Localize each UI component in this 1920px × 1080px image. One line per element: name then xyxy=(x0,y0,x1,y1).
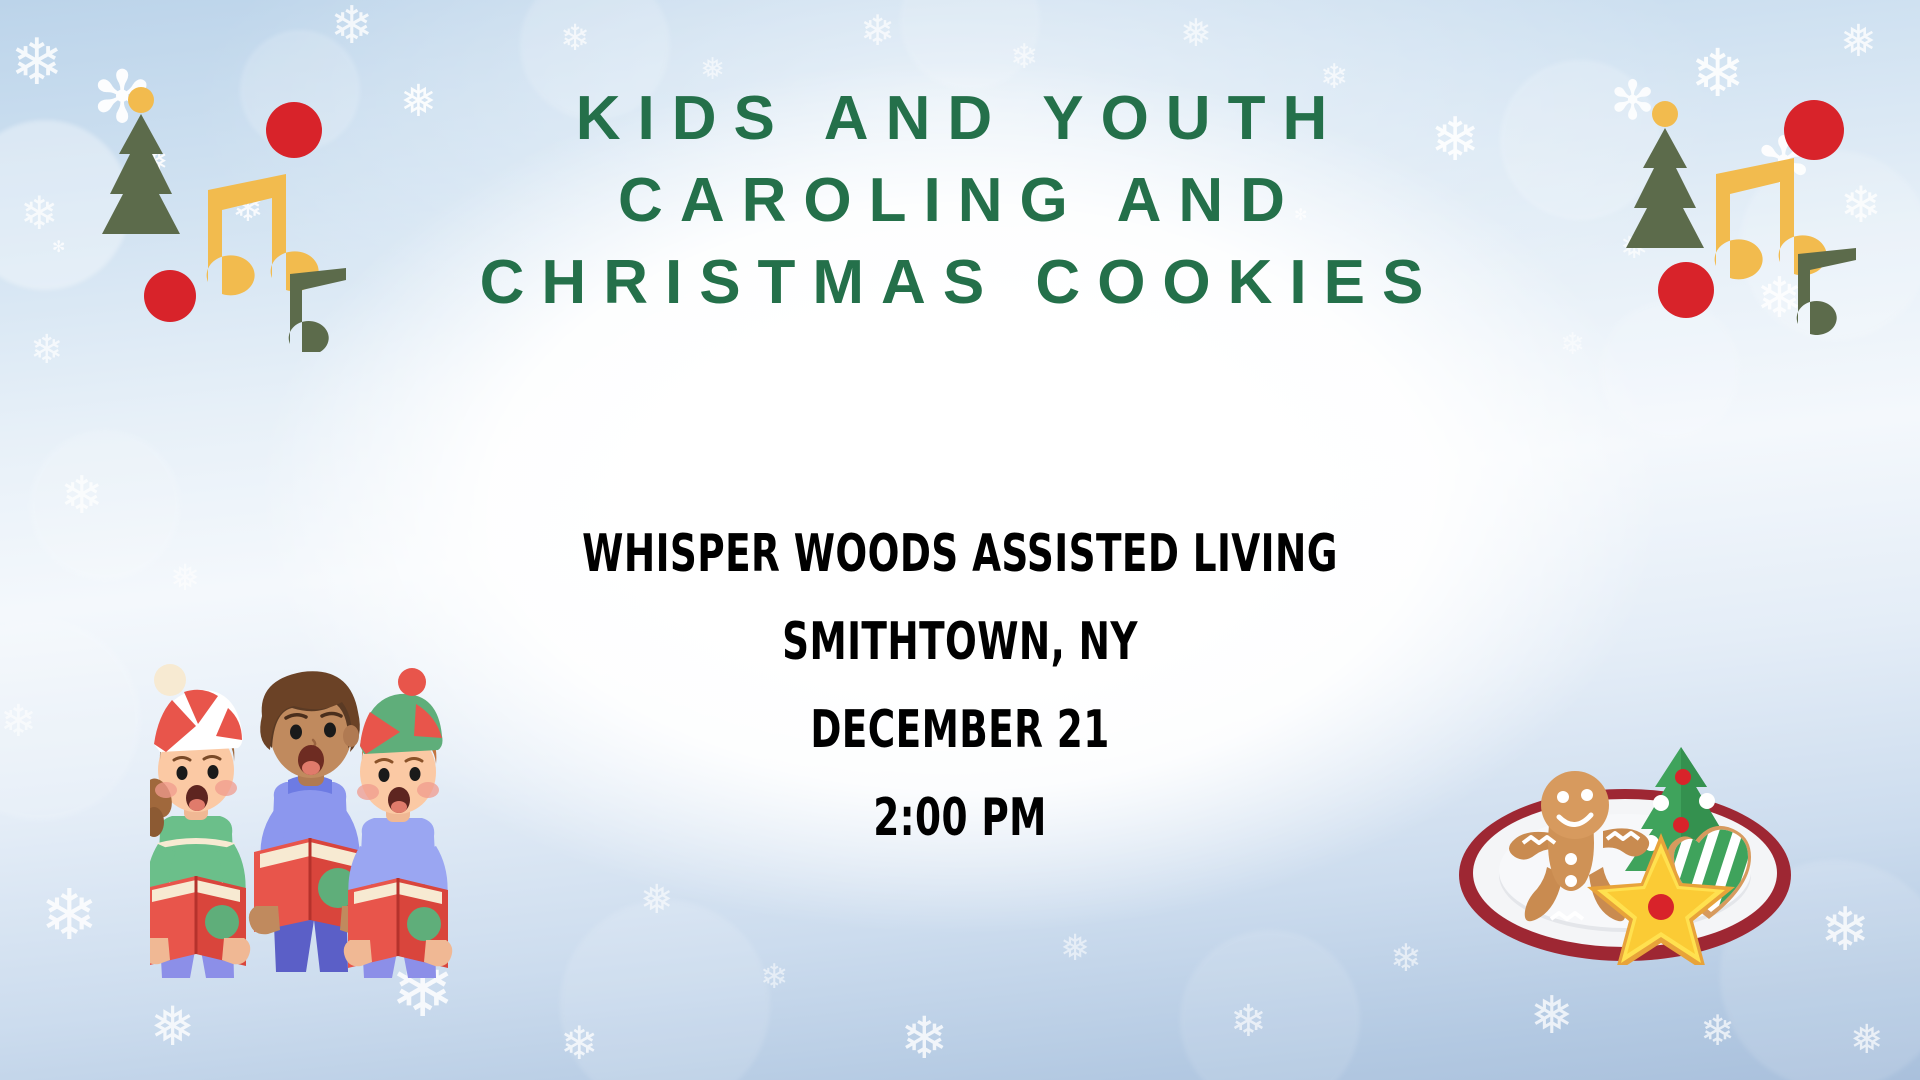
snowflake-icon: ❅ xyxy=(1180,15,1212,53)
snowflake-icon: ❄ xyxy=(1230,1000,1267,1044)
snowflake-icon: ❄ xyxy=(1560,330,1585,360)
title-line-1: Kids and Youth xyxy=(0,78,1920,160)
snowflake-icon: ❄ xyxy=(1010,40,1039,74)
snowflake-icon: ❅ xyxy=(1530,990,1574,1042)
snowflake-icon: ❄ xyxy=(330,0,374,52)
snowflake-icon: ❄ xyxy=(900,1010,949,1068)
event-time: 2:00 PM xyxy=(192,774,1728,862)
snowflake-icon: ❅ xyxy=(1850,1020,1884,1060)
poster-title: Kids and Youth Caroling and Christmas Co… xyxy=(0,78,1920,324)
bokeh-circle xyxy=(1180,930,1360,1080)
snowflake-icon: ❅ xyxy=(640,880,674,920)
event-date: December 21 xyxy=(192,686,1728,774)
snowflake-icon: ❄ xyxy=(30,330,64,370)
snowflake-icon: ❄ xyxy=(1700,1010,1735,1052)
snowflake-icon: ❄ xyxy=(40,880,99,950)
title-line-3: Christmas Cookies xyxy=(0,242,1920,324)
snowflake-icon: ❄ xyxy=(560,1020,599,1066)
snowflake-icon: ❅ xyxy=(1060,930,1090,966)
venue-location: Smithtown, NY xyxy=(192,598,1728,686)
snowflake-icon: ❅ xyxy=(1840,20,1877,64)
snowflake-icon: ❅ xyxy=(150,1000,195,1054)
snowflake-icon: ❄ xyxy=(860,10,895,52)
snowflake-icon: ❄ xyxy=(760,960,789,994)
snowflake-icon: ❄ xyxy=(560,20,590,56)
snowflake-icon: ❄ xyxy=(1820,900,1870,960)
snowflake-icon: ❄ xyxy=(1390,940,1422,978)
venue-name: Whisper Woods Assisted Living xyxy=(192,510,1728,598)
title-line-2: Caroling and xyxy=(0,160,1920,242)
event-details: Whisper Woods Assisted Living Smithtown,… xyxy=(0,510,1920,862)
christmas-event-poster: ❄ ❄ ❅ ❅ ❄ ❄ ❄ ❅ ❄ ❄ ❅ ❄ ❄ ❄ ❅ ❄ ❄ ❅ ❄ ❄ … xyxy=(0,0,1920,1080)
